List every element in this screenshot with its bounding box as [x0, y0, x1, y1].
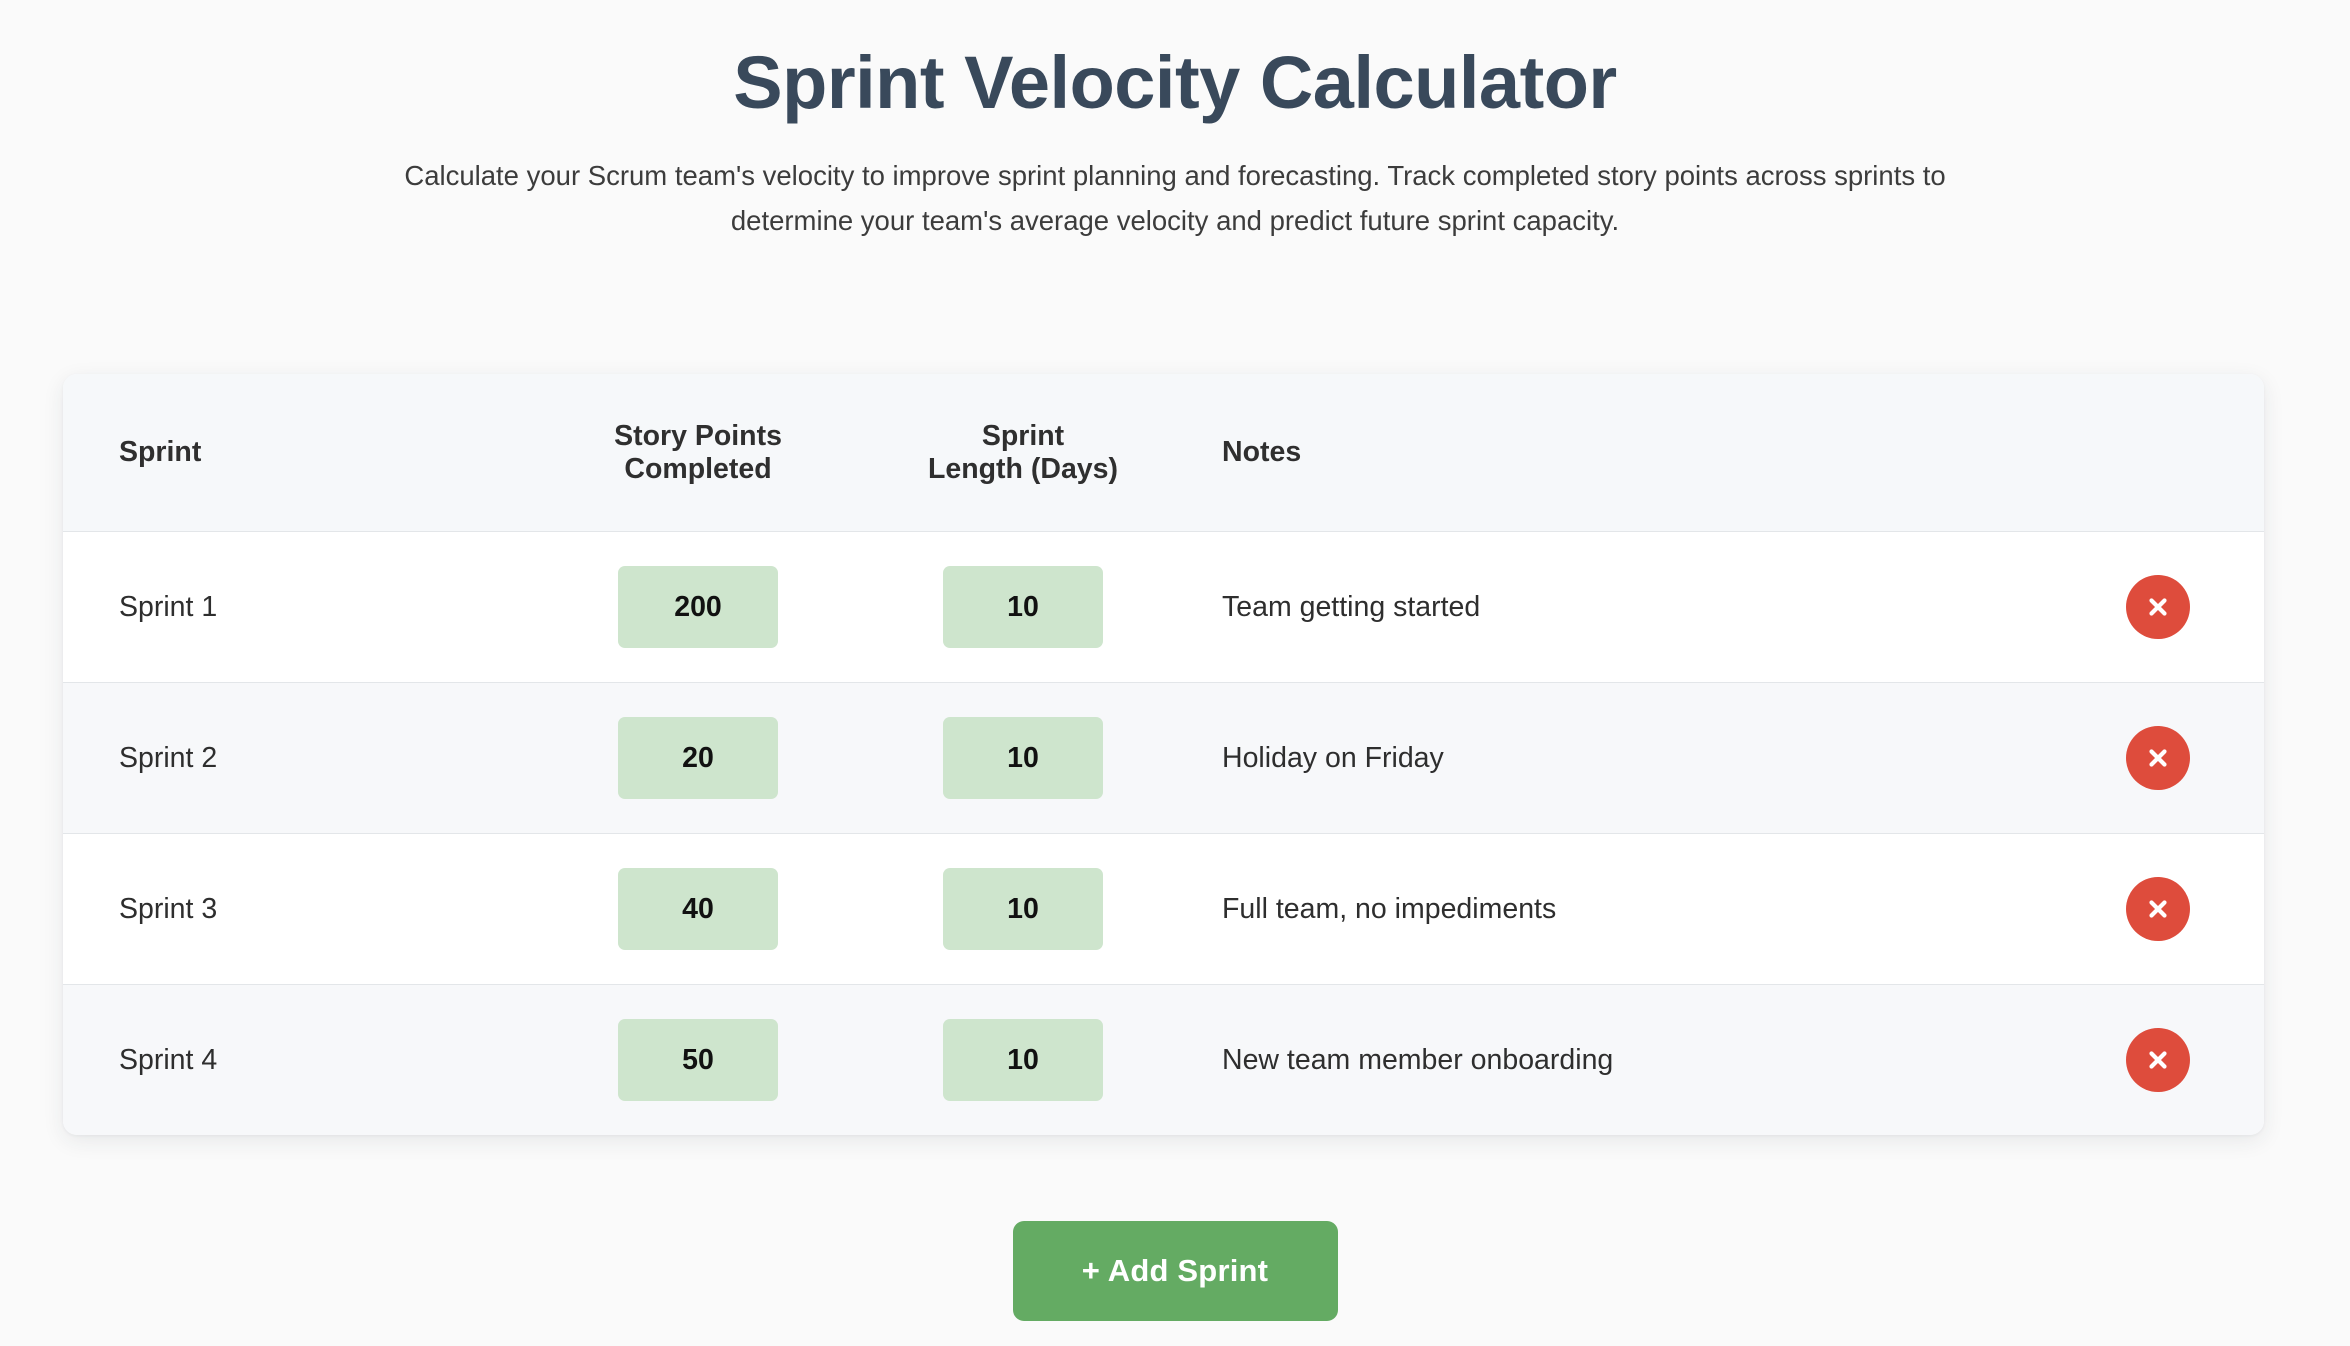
row-sprint-cell: Sprint 1	[63, 591, 538, 624]
row-sprint-cell: Sprint 3	[63, 893, 538, 926]
sprint-length-input[interactable]: 10	[943, 566, 1103, 648]
page-subtitle: Calculate your Scrum team's velocity to …	[395, 154, 1955, 243]
page-title: Sprint Velocity Calculator	[0, 38, 2350, 128]
column-header-story-points: Story Points Completed	[614, 420, 782, 485]
row-points-cell: 50	[538, 1019, 858, 1101]
close-x-icon	[2145, 745, 2171, 771]
row-notes-cell: Holiday on Friday	[1188, 742, 2068, 775]
close-x-icon	[2145, 594, 2171, 620]
close-x-icon	[2145, 896, 2171, 922]
row-length-cell: 10	[858, 868, 1188, 950]
notes-text[interactable]: Team getting started	[1222, 591, 1480, 623]
add-sprint-button[interactable]: + Add Sprint	[1013, 1221, 1338, 1321]
story-points-input[interactable]: 40	[618, 868, 778, 950]
row-points-cell: 40	[538, 868, 858, 950]
notes-text[interactable]: Holiday on Friday	[1222, 742, 1444, 774]
sprint-length-input[interactable]: 10	[943, 868, 1103, 950]
delete-sprint-button[interactable]	[2126, 726, 2190, 790]
column-header-length-cell: Sprint Length (Days)	[858, 420, 1188, 485]
row-action-cell	[2068, 575, 2264, 639]
delete-sprint-button[interactable]	[2126, 575, 2190, 639]
row-notes-cell: New team member onboarding	[1188, 1044, 2068, 1077]
column-header-notes-cell: Notes	[1188, 436, 2068, 468]
column-header-story-points-line1: Story Points	[614, 420, 782, 452]
row-length-cell: 10	[858, 717, 1188, 799]
sprint-label: Sprint 3	[119, 893, 217, 925]
sprint-label: Sprint 1	[119, 591, 217, 623]
notes-text[interactable]: New team member onboarding	[1222, 1044, 1613, 1076]
column-header-story-points-line2: Completed	[624, 453, 771, 485]
sprint-label: Sprint 2	[119, 742, 217, 774]
row-length-cell: 10	[858, 1019, 1188, 1101]
table-row: Sprint 4 50 10 New team member onboardin…	[63, 984, 2264, 1135]
table-row: Sprint 2 20 10 Holiday on Friday	[63, 682, 2264, 833]
column-header-points-cell: Story Points Completed	[538, 420, 858, 485]
row-action-cell	[2068, 726, 2264, 790]
sprint-length-input[interactable]: 10	[943, 1019, 1103, 1101]
row-sprint-cell: Sprint 2	[63, 742, 538, 775]
notes-text[interactable]: Full team, no impediments	[1222, 893, 1556, 925]
column-header-sprint-length-line1: Sprint	[982, 420, 1064, 452]
delete-sprint-button[interactable]	[2126, 877, 2190, 941]
row-points-cell: 20	[538, 717, 858, 799]
row-notes-cell: Full team, no impediments	[1188, 893, 2068, 926]
sprint-velocity-calculator-page: Sprint Velocity Calculator Calculate you…	[0, 0, 2350, 1346]
story-points-input[interactable]: 200	[618, 566, 778, 648]
table-row: Sprint 3 40 10 Full team, no impediments	[63, 833, 2264, 984]
sprint-table-card: Sprint Story Points Completed Sprint Len…	[63, 374, 2264, 1135]
table-header-row: Sprint Story Points Completed Sprint Len…	[63, 374, 2264, 531]
table-row: Sprint 1 200 10 Team getting started	[63, 531, 2264, 682]
row-length-cell: 10	[858, 566, 1188, 648]
column-header-sprint-cell: Sprint	[63, 436, 538, 468]
close-x-icon	[2145, 1047, 2171, 1073]
row-action-cell	[2068, 1028, 2264, 1092]
story-points-input[interactable]: 20	[618, 717, 778, 799]
row-notes-cell: Team getting started	[1188, 591, 2068, 624]
column-header-notes: Notes	[1222, 436, 2068, 468]
column-header-sprint: Sprint	[119, 436, 538, 468]
page-header: Sprint Velocity Calculator Calculate you…	[0, 0, 2350, 243]
sprint-length-input[interactable]: 10	[943, 717, 1103, 799]
add-sprint-container: + Add Sprint	[0, 1221, 2350, 1321]
column-header-sprint-length: Sprint Length (Days)	[928, 420, 1118, 485]
row-points-cell: 200	[538, 566, 858, 648]
column-header-sprint-length-line2: Length (Days)	[928, 453, 1118, 485]
delete-sprint-button[interactable]	[2126, 1028, 2190, 1092]
story-points-input[interactable]: 50	[618, 1019, 778, 1101]
sprint-label: Sprint 4	[119, 1044, 217, 1076]
row-sprint-cell: Sprint 4	[63, 1044, 538, 1077]
row-action-cell	[2068, 877, 2264, 941]
